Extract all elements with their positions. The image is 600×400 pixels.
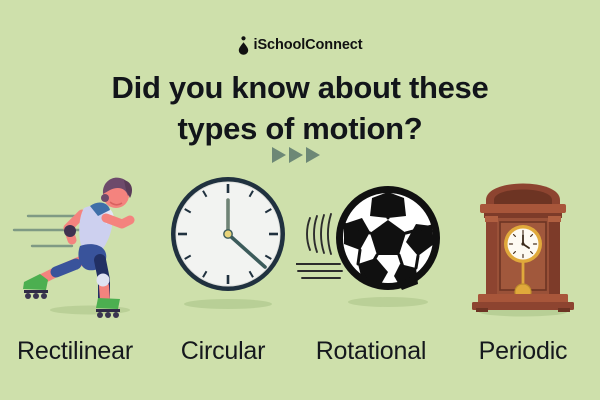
caption-periodic: Periodic — [446, 330, 600, 372]
wall-clock-icon — [171, 177, 285, 291]
caption-rotational: Rotational — [296, 330, 446, 372]
pendulum-mantel-clock-icon — [472, 184, 574, 313]
headline-line-1: Did you know about these — [0, 68, 600, 109]
figure-rectilinear — [6, 168, 150, 318]
triple-chevron-right-icon — [272, 145, 328, 170]
caption-row: Rectilinear Circular Rotational Periodic — [0, 330, 600, 372]
brand-logo: iSchoolConnect — [0, 36, 600, 55]
page-title: Did you know about these types of motion… — [0, 68, 600, 150]
figure-circular — [160, 168, 296, 318]
section-divider — [0, 145, 600, 170]
caption-circular: Circular — [150, 330, 296, 372]
headline-line-2: types of motion? — [0, 109, 600, 150]
infographic-canvas: iSchoolConnect Did you know about these … — [0, 0, 600, 400]
illustration-row — [0, 168, 600, 318]
brand-name: iSchoolConnect — [254, 38, 363, 53]
caption-rectilinear: Rectilinear — [0, 330, 150, 372]
soccer-ball-icon — [296, 186, 440, 290]
runner-on-inline-skates-icon — [14, 178, 132, 318]
figure-periodic — [452, 168, 594, 318]
droplet-pin-icon — [238, 36, 249, 55]
figure-rotational — [296, 168, 446, 318]
